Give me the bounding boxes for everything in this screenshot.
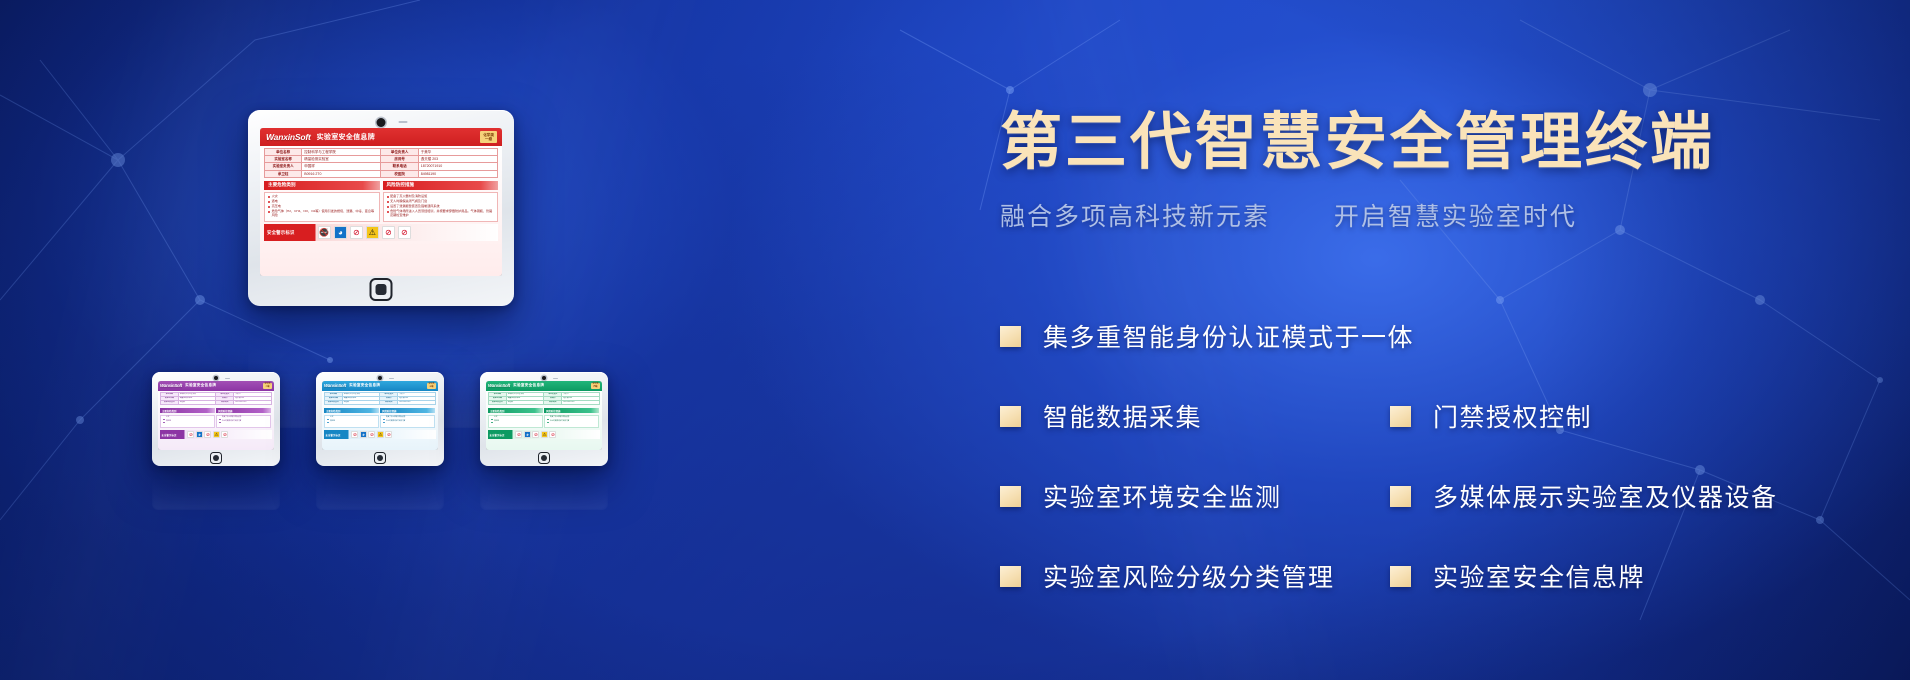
cell-key: 实验室负责人 xyxy=(161,400,179,404)
cell-value: 18720071910 xyxy=(398,400,436,404)
mandatory-protection-sign-icon: ◕ xyxy=(334,226,347,239)
board-title: 实验室安全信息牌 xyxy=(349,383,380,388)
badge-line-2: 四级 xyxy=(593,386,597,388)
table-row: 实验室负责人申国祥联系电话18720071910 xyxy=(325,400,436,404)
section-headers: 主要危险类别 风险防控措施 xyxy=(264,181,498,190)
feature-label: 实验室风险分级分类管理 xyxy=(1043,558,1335,594)
controls-section-title: 风险防控措施 xyxy=(544,408,599,414)
cell-value: 84981190 xyxy=(418,170,497,177)
table-row: 实验室名称 精量检测实验室 房间号 逸夫楼 203 xyxy=(265,156,498,163)
hazard-level-badge: 化学类 四级 xyxy=(591,383,600,390)
feature-label: 实验室安全信息牌 xyxy=(1433,558,1645,594)
safety-info-board: WanxinSoft 实验室安全信息牌 化学类 二级 单位名称控制科学与工程学院… xyxy=(158,381,274,450)
hazards-section-title: 主要危险类别 xyxy=(160,408,215,414)
bullet-dot-icon xyxy=(327,422,329,423)
control-text: 配备了灭火器材及消防设施 xyxy=(222,417,241,419)
lab-info-table: 单位名称控制科学与工程学院单位负责人于美华 实验室名称精量检测实验室房间号逸夫楼… xyxy=(160,392,272,405)
safety-sign-icons: 🚭 ◕ ⊘ ⚠ ⊘ ⊘ xyxy=(315,226,495,239)
cell-value: 于美华 xyxy=(418,148,497,155)
hazards-section-title: 主要危险类别 xyxy=(324,408,379,414)
home-button[interactable] xyxy=(210,452,222,464)
controls-section-title: 风险防控措施 xyxy=(216,408,271,414)
no-smoking-sign-icon: 🚭 xyxy=(318,226,331,239)
board-title: 实验室安全信息牌 xyxy=(317,132,375,142)
page-title: 第三代智慧安全管理终端 xyxy=(1000,108,1880,177)
no-entry-sign-icon: ⊘ xyxy=(549,431,556,438)
control-text: 无人时确保关闭气阀及门窗 xyxy=(386,421,405,423)
list-item: 无人时确保关闭气阀及门窗 xyxy=(383,421,433,423)
cell-value: 精量检测实验室 xyxy=(302,156,381,163)
no-open-flame-sign-icon: ⊘ xyxy=(368,431,375,438)
cell-key: 联系电话 xyxy=(381,163,418,170)
bullet-dot-icon xyxy=(219,419,221,420)
list-item: 高压电 xyxy=(163,421,213,423)
subtitle-part-1: 融合多项高科技新元素 xyxy=(1000,203,1270,231)
home-button[interactable] xyxy=(374,452,386,464)
board-title: 实验室安全信息牌 xyxy=(185,383,216,388)
wanxinsoft-logo: WanxinSoft xyxy=(324,383,346,388)
controls-list: 配备了灭火器材及消防设施 无人时确保关闭气阀及门窗 xyxy=(216,415,271,428)
cell-value: 18720071910 xyxy=(234,400,272,404)
camera-icon xyxy=(542,376,546,380)
no-open-flame-sign-icon: ⊘ xyxy=(532,431,539,438)
bullet-dot-icon xyxy=(268,211,270,213)
no-smoking-sign-icon: ⊘ xyxy=(351,431,358,438)
bullet-square-icon xyxy=(1390,486,1411,507)
badge-line-2: 一级 xyxy=(485,137,492,141)
cell-key: 承卫柱 xyxy=(265,170,302,177)
no-open-flame-sign-icon: ⊘ xyxy=(204,431,211,438)
badge-line-1: 化学类 xyxy=(483,133,494,137)
bullet-dot-icon xyxy=(387,206,389,208)
safety-signs-row: 安全警示标识 🚭 ◕ ⊘ ⚠ ⊘ ⊘ xyxy=(264,224,498,241)
control-text: 无人时确保关闭气阀及门窗 xyxy=(550,421,569,423)
board-header: WanxinSoft 实验室安全信息牌 化学类 一级 xyxy=(260,128,502,146)
board-header: WanxinSoft 实验室安全信息牌 化学类 三级 xyxy=(322,381,438,391)
cell-key: 联系电话 xyxy=(216,400,234,404)
no-smoking-sign-icon: ⊘ xyxy=(187,431,194,438)
lab-info-table: 单位名称控制科学与工程学院单位负责人于美华 实验室名称精量检测实验室房间号逸夫楼… xyxy=(324,392,436,405)
no-entry-sign-icon: ⊘ xyxy=(382,226,395,239)
bullet-dot-icon xyxy=(547,419,549,420)
bullet-square-icon xyxy=(1000,486,1021,507)
list-item: 火灾 xyxy=(268,195,376,199)
cell-key: 实验室名称 xyxy=(265,156,302,163)
cell-value: 18720071910 xyxy=(562,400,600,404)
controls-list: 配备了灭火器材及消防设施 无人时确保关闭气阀及门窗 xyxy=(544,415,599,428)
bullet-dot-icon xyxy=(219,422,221,423)
list-item: 配备了灭火器材及消防设施 xyxy=(383,417,433,419)
controls-list: 配备了灭火器材及消防设施 无人时确保关闭气阀及门窗 设置了泄漏报警装置及强制通风… xyxy=(383,192,499,222)
section-bodies: 火灾 高压电 配备了灭火器材及消防设施 无人时确保关闭气阀及门窗 xyxy=(324,415,436,428)
cell-key: 单位负责人 xyxy=(381,148,418,155)
feature-item-multimedia-display[interactable]: 多媒体展示实验室及仪器设备 xyxy=(1390,478,1810,514)
control-text: 配备了灭火器材及消防设施 xyxy=(386,417,405,419)
cell-key: 联系电话 xyxy=(380,400,398,404)
feature-item-risk-classification[interactable]: 实验室风险分级分类管理 xyxy=(1000,558,1390,594)
bullet-square-icon xyxy=(1000,566,1021,587)
safety-info-board: WanxinSoft 实验室安全信息牌 化学类 一级 单位名称 控制科学与工程学… xyxy=(260,128,502,276)
feature-label: 智能数据采集 xyxy=(1043,398,1202,434)
tablet-shell: WanxinSoft 实验室安全信息牌 化学类 二级 单位名称控制科学与工程学院… xyxy=(152,372,280,466)
bullet-dot-icon xyxy=(268,196,270,198)
mandatory-protection-sign-icon: ◕ xyxy=(360,431,367,438)
cell-value: 申国祥 xyxy=(506,400,544,404)
hazard-text: 高压电 xyxy=(330,421,335,423)
list-item: 配备了灭火器材及消防设施 xyxy=(219,417,269,419)
feature-row: 实验室环境安全监测 多媒体展示实验室及仪器设备 xyxy=(1000,478,1880,514)
marketing-copy: 第三代智慧安全管理终端 融合多项高科技新元素 开启智慧实验室时代 xyxy=(1000,108,1880,233)
table-row: 实验室负责人 申国祥 联系电话 18720071910 xyxy=(265,163,498,170)
bullet-dot-icon xyxy=(383,422,385,423)
controls-section-title: 风险防控措施 xyxy=(383,181,499,190)
tablet-screen[interactable]: WanxinSoft 实验室安全信息牌 化学类 四级 单位名称控制科学与工程学院… xyxy=(486,381,602,450)
bullet-dot-icon xyxy=(387,196,389,198)
safety-signs-label: 安全警示标识 xyxy=(490,433,513,437)
feature-item-environment-monitoring[interactable]: 实验室环境安全监测 xyxy=(1000,478,1390,514)
no-open-flame-sign-icon: ⊘ xyxy=(350,226,363,239)
subtitle-part-2: 开启智慧实验室时代 xyxy=(1334,203,1577,231)
purple-terminal-device[interactable]: WanxinSoft 实验室安全信息牌 化学类 二级 单位名称控制科学与工程学院… xyxy=(152,372,280,466)
safety-sign-icons: ⊘ ◕ ⊘ ⚠ ⊘ xyxy=(184,431,270,438)
feature-label: 门禁授权控制 xyxy=(1433,398,1592,434)
hazards-list: 火灾 通电 高压电 危险气体（H2、CH4、NO、O2等）使用引发的燃烧、泄漏、… xyxy=(264,192,380,222)
bullet-dot-icon xyxy=(387,201,389,203)
hazards-section-title: 主要危险类别 xyxy=(488,408,543,414)
camera-icon xyxy=(377,118,386,127)
cell-value: 申国祥 xyxy=(302,163,381,170)
hazard-level-badge: 化学类 一级 xyxy=(480,131,497,143)
list-item: 危险气体（H2、CH4、NO、O2等）使用引发的燃烧、泄漏、中毒、窒息等风险 xyxy=(268,210,376,218)
section-bodies: 火灾 通电 高压电 危险气体（H2、CH4、NO、O2等）使用引发的燃烧、泄漏、… xyxy=(264,192,498,222)
main-terminal-device[interactable]: WanxinSoft 实验室安全信息牌 化学类 一级 单位名称 控制科学与工程学… xyxy=(248,110,514,306)
controls-list: 配备了灭火器材及消防设施 无人时确保关闭气阀及门窗 xyxy=(380,415,435,428)
lab-info-table: 单位名称控制科学与工程学院单位负责人于美华 实验室名称精量检测实验室房间号逸夫楼… xyxy=(488,392,600,405)
tablet-screen[interactable]: WanxinSoft 实验室安全信息牌 化学类 二级 单位名称控制科学与工程学院… xyxy=(158,381,274,450)
hazards-list: 火灾 高压电 xyxy=(324,415,379,428)
board-body: 单位名称控制科学与工程学院单位负责人于美华 实验室名称精量检测实验室房间号逸夫楼… xyxy=(322,391,438,450)
section-bodies: 火灾 高压电 配备了灭火器材及消防设施 无人时确保关闭气阀及门窗 xyxy=(160,415,272,428)
list-item: 危险气体场所进入人员须经培训，并按要求穿戴防护用品，气体钢瓶、管路定期检查维护 xyxy=(387,210,495,218)
feature-list: 集多重智能身份认证模式于一体 智能数据采集 门禁授权控制 实验室环境安全监测 多… xyxy=(1000,318,1880,638)
tablet-shell: WanxinSoft 实验室安全信息牌 化学类 三级 单位名称控制科学与工程学院… xyxy=(316,372,444,466)
safety-sign-icons: ⊘ ◕ ⊘ ⚠ ⊘ xyxy=(348,431,434,438)
bullet-dot-icon xyxy=(383,419,385,420)
cell-value: B0916 2T0 xyxy=(302,170,381,177)
bullet-square-icon xyxy=(1000,326,1021,347)
bullet-dot-icon xyxy=(163,422,165,423)
feature-row: 集多重智能身份认证模式于一体 xyxy=(1000,318,1880,354)
board-title: 实验室安全信息牌 xyxy=(513,383,544,388)
wanxinsoft-logo: WanxinSoft xyxy=(160,383,182,388)
feature-item-safety-info-board[interactable]: 实验室安全信息牌 xyxy=(1390,558,1810,594)
control-text: 配备了灭火器材及消防设施 xyxy=(550,417,569,419)
bullet-square-icon xyxy=(1390,406,1411,427)
home-button[interactable] xyxy=(538,452,550,464)
hazard-text: 火灾 xyxy=(166,417,169,419)
hazard-text: 火灾 xyxy=(494,417,497,419)
safety-signs-label: 安全警示标识 xyxy=(267,230,315,236)
safety-signs-row: 安全警示标识 ⊘ ◕ ⊘ ⚠ ⊘ xyxy=(488,430,600,439)
cell-key: 校医院 xyxy=(381,170,418,177)
wanxinsoft-logo: WanxinSoft xyxy=(266,132,311,142)
hazard-text: 火灾 xyxy=(330,417,333,419)
hazard-text: 高压电 xyxy=(166,421,171,423)
feature-label: 多媒体展示实验室及仪器设备 xyxy=(1433,478,1778,514)
warning-triangle-sign-icon: ⚠ xyxy=(366,226,379,239)
bullet-dot-icon xyxy=(491,419,493,420)
cell-value: 申国祥 xyxy=(178,400,216,404)
feature-label: 集多重智能身份认证模式于一体 xyxy=(1043,318,1414,354)
cell-key: 实验室负责人 xyxy=(325,400,343,404)
page-subtitle: 融合多项高科技新元素 开启智慧实验室时代 xyxy=(1000,197,1880,233)
cell-key: 实验室负责人 xyxy=(489,400,507,404)
hazard-level-badge: 化学类 三级 xyxy=(427,383,436,390)
cell-key: 实验室负责人 xyxy=(265,163,302,170)
bullet-square-icon xyxy=(1390,566,1411,587)
bullet-dot-icon xyxy=(387,211,389,213)
tablet-screen[interactable]: WanxinSoft 实验室安全信息牌 化学类 一级 单位名称 控制科学与工程学… xyxy=(260,128,502,276)
controls-section-title: 风险防控措施 xyxy=(380,408,435,414)
feature-label: 实验室环境安全监测 xyxy=(1043,478,1282,514)
safety-info-board: WanxinSoft 实验室安全信息牌 化学类 四级 单位名称控制科学与工程学院… xyxy=(486,381,602,450)
no-entry-sign-icon: ⊘ xyxy=(221,431,228,438)
feature-item-data-collection[interactable]: 智能数据采集 xyxy=(1000,398,1390,434)
safety-signs-label: 安全警示标识 xyxy=(326,433,349,437)
tablet-shell: WanxinSoft 实验室安全信息牌 化学类 四级 单位名称控制科学与工程学院… xyxy=(480,372,608,466)
no-smoking-sign-icon: ⊘ xyxy=(515,431,522,438)
table-row: 实验室负责人申国祥联系电话18720071910 xyxy=(161,400,272,404)
safety-signs-row: 安全警示标识 ⊘ ◕ ⊘ ⚠ ⊘ xyxy=(324,430,436,439)
bullet-dot-icon xyxy=(327,419,329,420)
safety-info-board: WanxinSoft 实验室安全信息牌 化学类 三级 单位名称控制科学与工程学院… xyxy=(322,381,438,450)
board-body: 单位名称 控制科学与工程学院 单位负责人 于美华 实验室名称 精量检测实验室 房… xyxy=(260,146,502,276)
warning-triangle-sign-icon: ⚠ xyxy=(377,431,384,438)
badge-line-2: 三级 xyxy=(429,386,433,388)
lab-info-table: 单位名称 控制科学与工程学院 单位负责人 于美华 实验室名称 精量检测实验室 房… xyxy=(264,148,498,178)
badge-line-2: 二级 xyxy=(265,386,269,388)
control-text: 无人时确保关闭气阀及门窗 xyxy=(222,421,241,423)
hazards-section-title: 主要危险类别 xyxy=(264,181,380,190)
board-body: 单位名称控制科学与工程学院单位负责人于美华 实验室名称精量检测实验室房间号逸夫楼… xyxy=(158,391,274,450)
cell-value: 控制科学与工程学院 xyxy=(302,148,381,155)
camera-icon xyxy=(214,376,218,380)
feature-row: 智能数据采集 门禁授权控制 xyxy=(1000,398,1880,434)
tablet-shell: WanxinSoft 实验室安全信息牌 化学类 一级 单位名称 控制科学与工程学… xyxy=(248,110,514,306)
green-terminal-device[interactable]: WanxinSoft 实验室安全信息牌 化学类 四级 单位名称控制科学与工程学院… xyxy=(480,372,608,466)
blue-terminal-device[interactable]: WanxinSoft 实验室安全信息牌 化学类 三级 单位名称控制科学与工程学院… xyxy=(316,372,444,466)
feature-item-access-control[interactable]: 门禁授权控制 xyxy=(1390,398,1810,434)
bullet-dot-icon xyxy=(491,422,493,423)
table-row: 承卫柱 B0916 2T0 校医院 84981190 xyxy=(265,170,498,177)
cell-value: 申国祥 xyxy=(342,400,380,404)
hazard-text: 高压电 xyxy=(494,421,499,423)
tablet-screen[interactable]: WanxinSoft 实验室安全信息牌 化学类 三级 单位名称控制科学与工程学院… xyxy=(322,381,438,450)
wanxinsoft-logo: WanxinSoft xyxy=(488,383,510,388)
feature-item-identity-auth[interactable]: 集多重智能身份认证模式于一体 xyxy=(1000,318,1390,354)
safety-sign-icons: ⊘ ◕ ⊘ ⚠ ⊘ xyxy=(512,431,598,438)
feature-row: 实验室风险分级分类管理 实验室安全信息牌 xyxy=(1000,558,1880,594)
home-button[interactable] xyxy=(370,278,393,301)
bullet-dot-icon xyxy=(268,201,270,203)
no-entry-sign-icon: ⊘ xyxy=(385,431,392,438)
list-item: 配备了灭火器材及消防设施 xyxy=(547,417,597,419)
board-header: WanxinSoft 实验室安全信息牌 化学类 二级 xyxy=(158,381,274,391)
table-row: 单位名称 控制科学与工程学院 单位负责人 于美华 xyxy=(265,148,498,155)
bullet-dot-icon xyxy=(547,422,549,423)
warning-corrosive-sign-icon: ⊘ xyxy=(398,226,411,239)
board-body: 单位名称控制科学与工程学院单位负责人于美华 实验室名称精量检测实验室房间号逸夫楼… xyxy=(486,391,602,450)
section-headers: 主要危险类别 风险防控措施 xyxy=(160,408,272,414)
section-headers: 主要危险类别 风险防控措施 xyxy=(488,408,600,414)
cell-key: 单位名称 xyxy=(265,148,302,155)
list-item: 高压电 xyxy=(327,421,377,423)
safety-signs-label: 安全警示标识 xyxy=(162,433,185,437)
cell-value: 18720071910 xyxy=(418,163,497,170)
cell-value: 逸夫楼 203 xyxy=(418,156,497,163)
warning-triangle-sign-icon: ⚠ xyxy=(541,431,548,438)
list-item: 通电 xyxy=(268,200,376,204)
safety-signs-row: 安全警示标识 ⊘ ◕ ⊘ ⚠ ⊘ xyxy=(160,430,272,439)
hazard-text: 危险气体（H2、CH4、NO、O2等）使用引发的燃烧、泄漏、中毒、窒息等风险 xyxy=(272,210,376,218)
control-text: 危险气体场所进入人员须经培训，并按要求穿戴防护用品，气体钢瓶、管路定期检查维护 xyxy=(390,210,494,218)
camera-icon xyxy=(378,376,382,380)
list-item: 火灾 xyxy=(491,417,541,419)
table-row: 实验室负责人申国祥联系电话18720071910 xyxy=(489,400,600,404)
bullet-dot-icon xyxy=(268,206,270,208)
list-item: 无人时确保关闭气阀及门窗 xyxy=(219,421,269,423)
cell-key: 房间号 xyxy=(381,156,418,163)
bullet-square-icon xyxy=(1000,406,1021,427)
list-item: 无人时确保关闭气阀及门窗 xyxy=(547,421,597,423)
bullet-dot-icon xyxy=(163,419,165,420)
mandatory-protection-sign-icon: ◕ xyxy=(524,431,531,438)
hazards-list: 火灾 高压电 xyxy=(488,415,543,428)
list-item: 火灾 xyxy=(327,417,377,419)
section-headers: 主要危险类别 风险防控措施 xyxy=(324,408,436,414)
mandatory-protection-sign-icon: ◕ xyxy=(196,431,203,438)
list-item: 高压电 xyxy=(491,421,541,423)
cell-key: 联系电话 xyxy=(544,400,562,404)
hazards-list: 火灾 高压电 xyxy=(160,415,215,428)
board-header: WanxinSoft 实验室安全信息牌 化学类 四级 xyxy=(486,381,602,391)
list-item: 火灾 xyxy=(163,417,213,419)
hazard-level-badge: 化学类 二级 xyxy=(263,383,272,390)
warning-triangle-sign-icon: ⚠ xyxy=(213,431,220,438)
section-bodies: 火灾 高压电 配备了灭火器材及消防设施 无人时确保关闭气阀及门窗 xyxy=(488,415,600,428)
